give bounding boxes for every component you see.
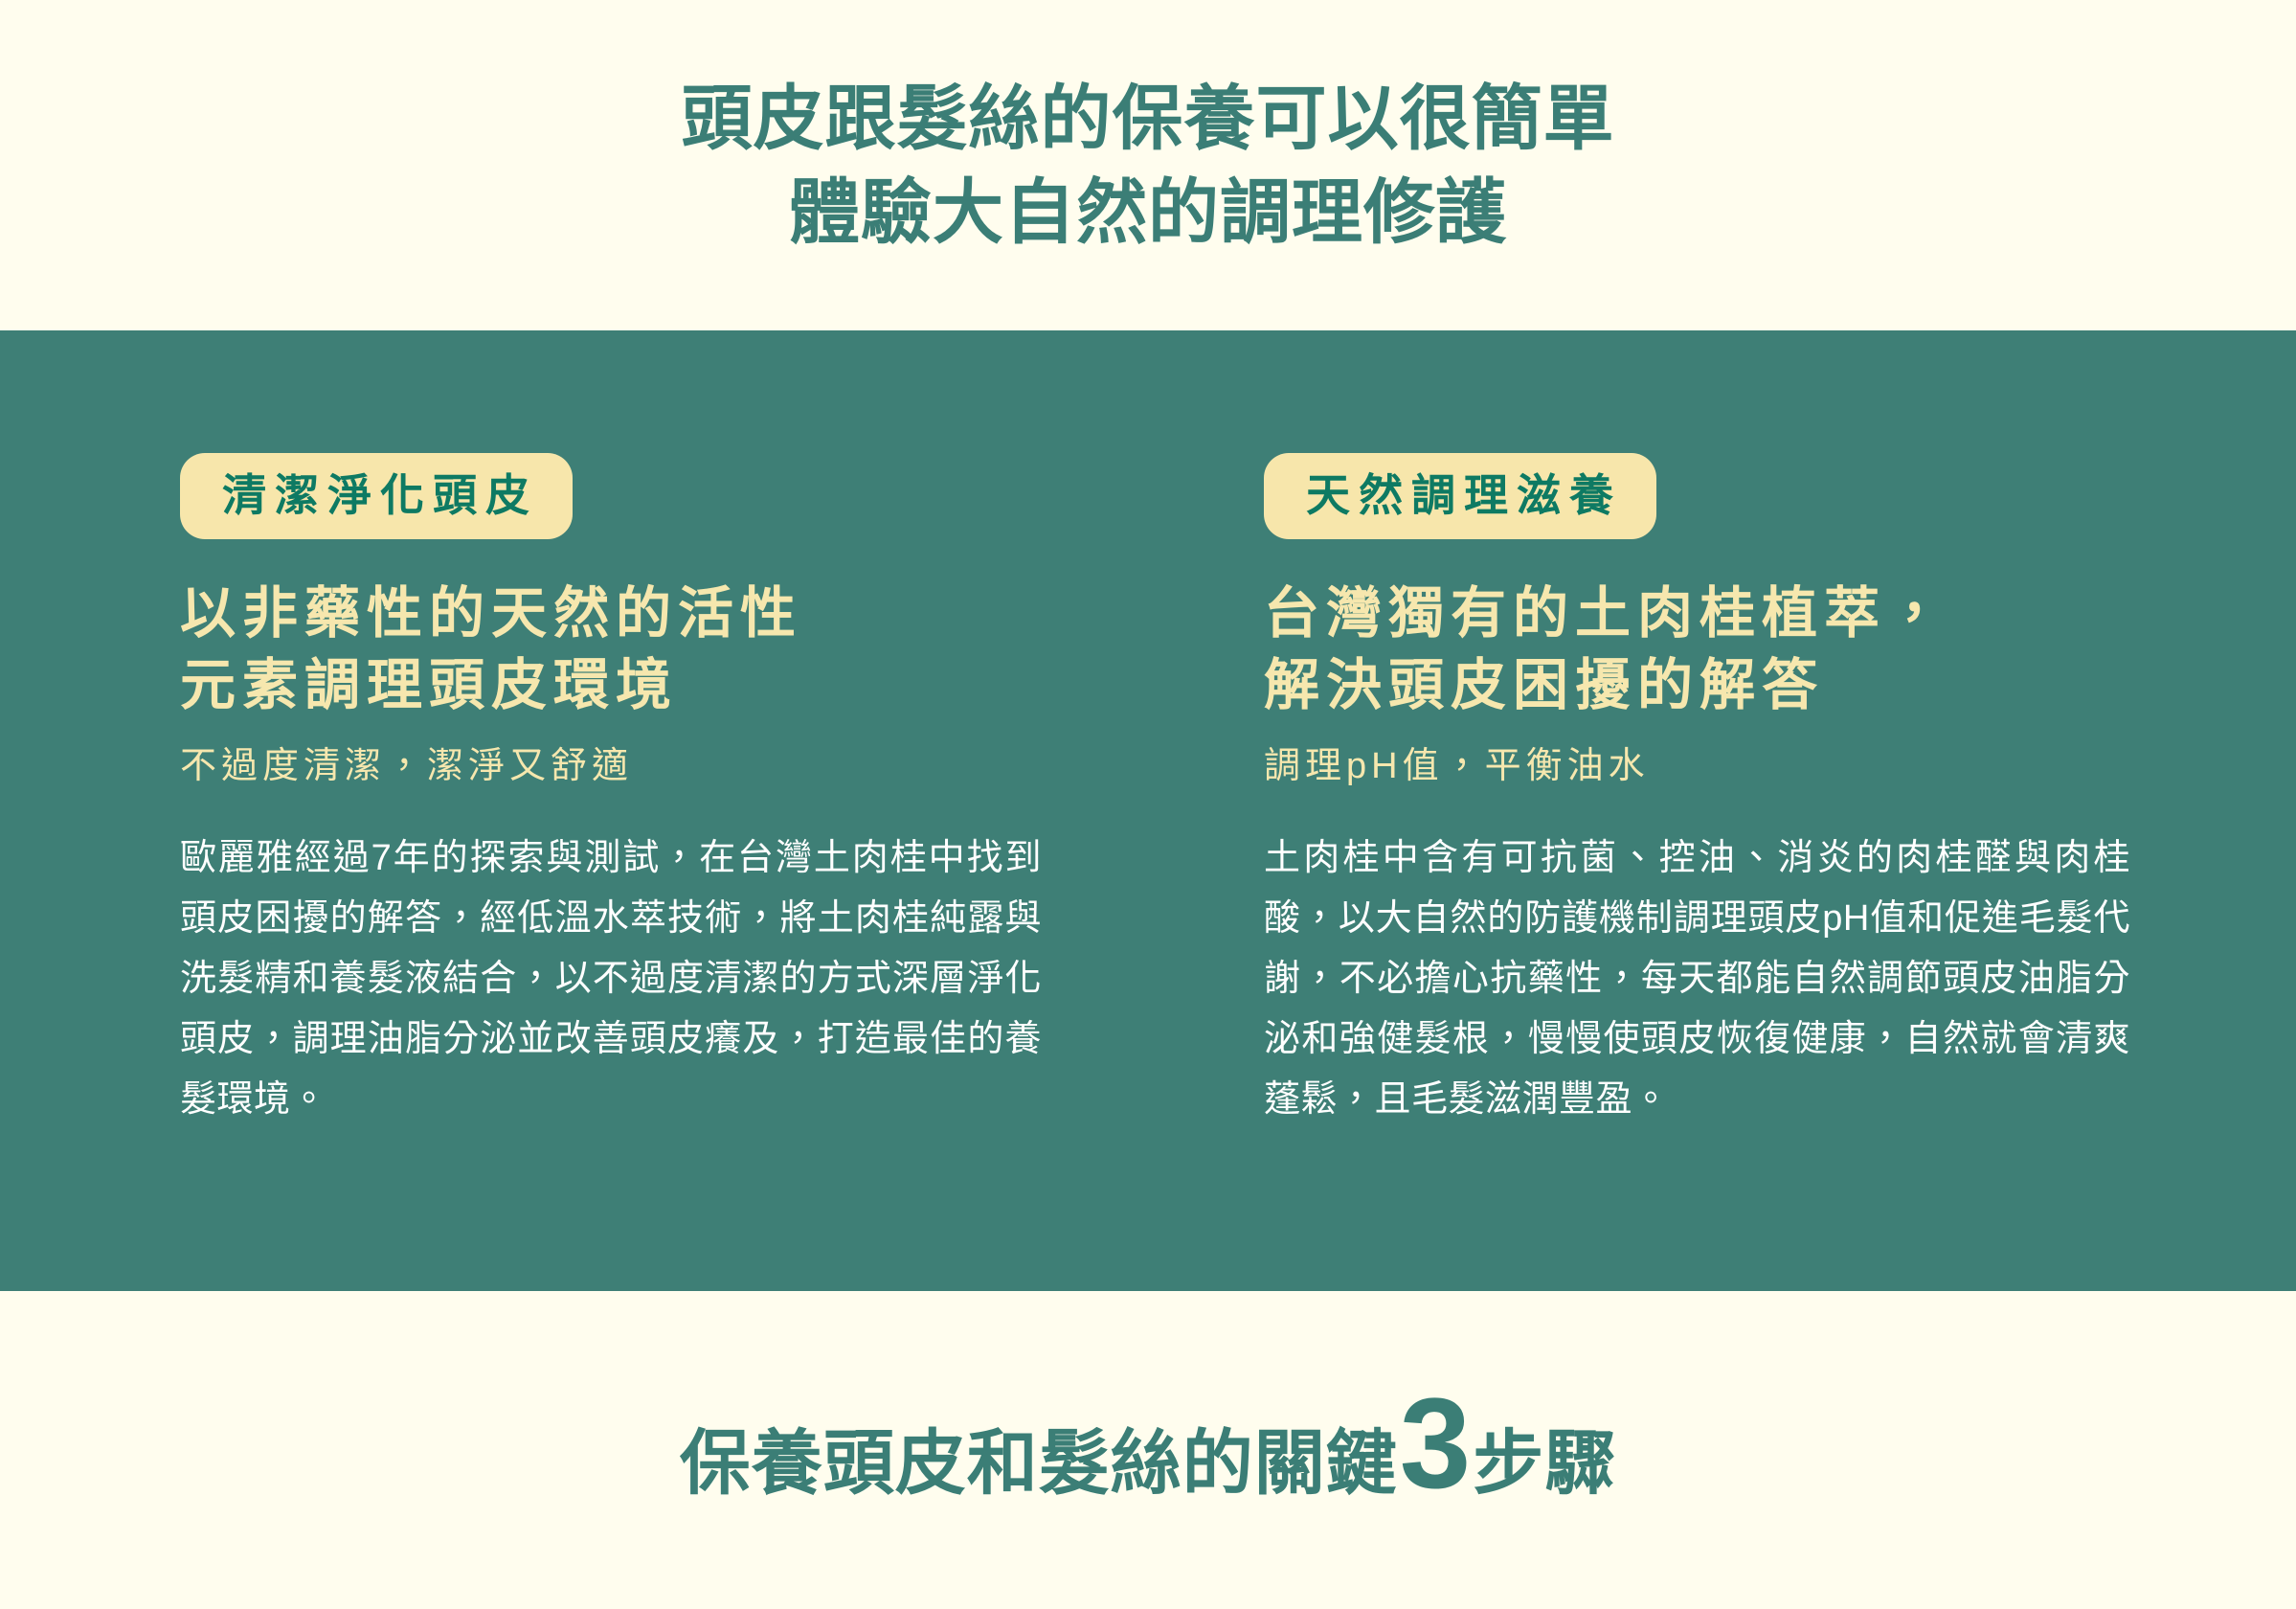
footer-headline-suffix: 步驟	[1473, 1406, 1616, 1508]
hero-title-line-2: 體驗大自然的調理修護	[789, 166, 1507, 260]
card-heading-nourishing: 台灣獨有的土肉桂植萃， 解決頭皮困擾的解答	[1264, 578, 2135, 722]
card-subtitle-nourishing: 調理pH值，平衡油水	[1264, 743, 2135, 790]
card-heading-line-1: 台灣獨有的土肉桂植萃，	[1264, 578, 2135, 649]
hero-title-section: 頭皮跟髮絲的保養可以很簡單 體驗大自然的調理修護	[0, 0, 2296, 330]
footer-headline: 保養頭皮和髮絲的關鍵3步驟	[680, 1393, 1617, 1508]
card-body-cleansing: 歐麗雅經過7年的探索與測試，在台灣土肉桂中找到頭皮困擾的解答，經低溫水萃技術，將…	[180, 828, 1042, 1130]
footer-headline-prefix: 保養頭皮和髮絲的關鍵	[680, 1406, 1398, 1508]
card-badge-cleansing: 清潔淨化頭皮	[180, 453, 573, 539]
card-subtitle-cleansing: 不過度清潔，潔淨又舒適	[180, 743, 1051, 790]
card-badge-nourishing: 天然調理滋養	[1264, 453, 1656, 539]
hero-title-line-1: 頭皮跟髮絲的保養可以很簡單	[682, 72, 1615, 166]
card-body-nourishing: 土肉桂中含有可抗菌、控油、消炎的肉桂醛與肉桂酸，以大自然的防護機制調理頭皮pH值…	[1264, 828, 2130, 1130]
feature-panel: 清潔淨化頭皮 以非藥性的天然的活性 元素調理頭皮環境 不過度清潔，潔淨又舒適 歐…	[0, 330, 2296, 1291]
card-heading-line-1: 以非藥性的天然的活性	[180, 578, 1051, 649]
card-heading-line-2: 解決頭皮困擾的解答	[1264, 649, 2135, 721]
footer-section: 保養頭皮和髮絲的關鍵3步驟	[0, 1291, 2296, 1609]
card-heading-line-2: 元素調理頭皮環境	[180, 649, 1051, 721]
footer-step-number: 3	[1398, 1393, 1474, 1495]
feature-card-cleansing: 清潔淨化頭皮 以非藥性的天然的活性 元素調理頭皮環境 不過度清潔，潔淨又舒適 歐…	[0, 453, 1148, 1291]
feature-card-nourishing: 天然調理滋養 台灣獨有的土肉桂植萃， 解決頭皮困擾的解答 調理pH值，平衡油水 …	[1148, 453, 2296, 1291]
card-heading-cleansing: 以非藥性的天然的活性 元素調理頭皮環境	[180, 578, 1051, 722]
